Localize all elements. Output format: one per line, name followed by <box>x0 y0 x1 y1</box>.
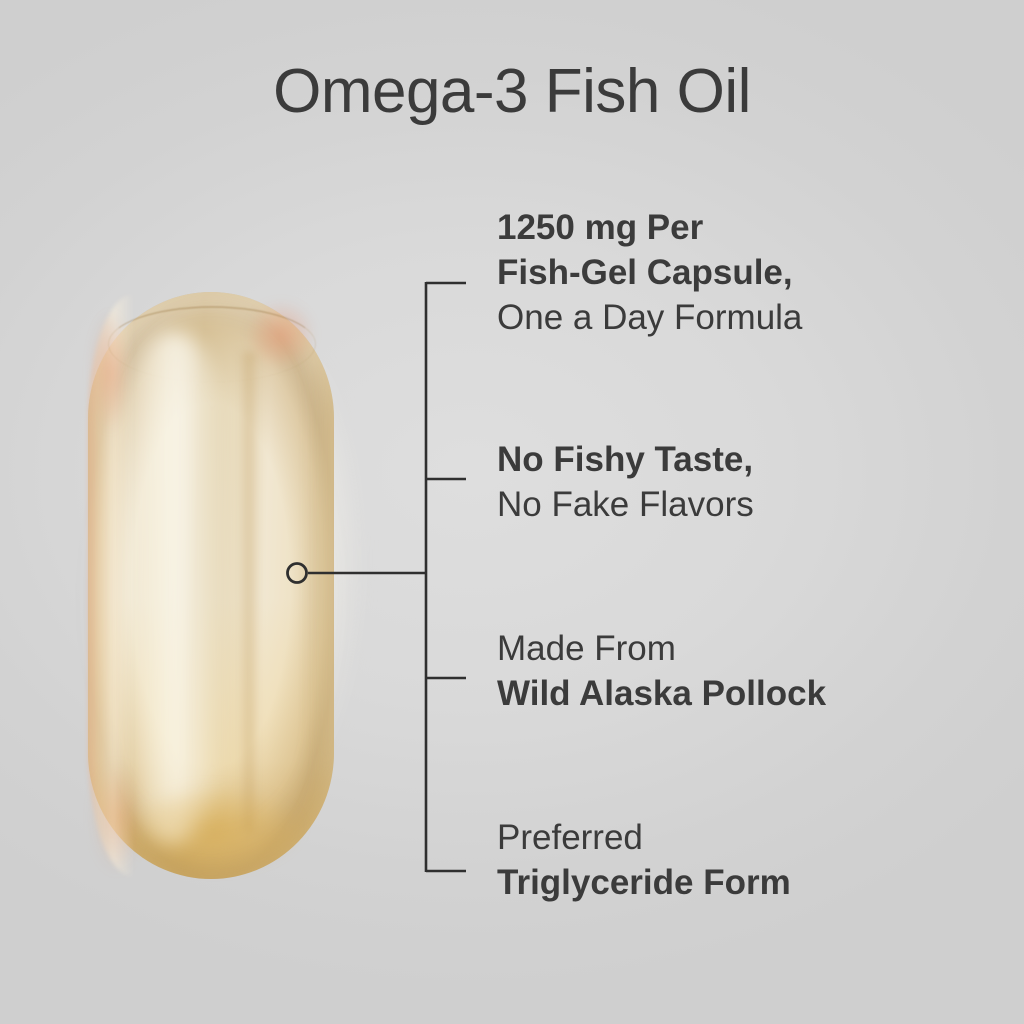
feature-source-line-1: Made From <box>497 629 676 668</box>
capsule-body <box>88 292 334 879</box>
feature-source: Made From Wild Alaska Pollock <box>497 626 826 716</box>
softgel-capsule-image <box>84 288 336 880</box>
feature-source-line-2: Wild Alaska Pollock <box>497 674 826 713</box>
capsule-inner-caustic <box>238 352 260 832</box>
page-title: Omega-3 Fish Oil <box>0 56 1024 127</box>
feature-dose: 1250 mg Per Fish-Gel Capsule, One a Day … <box>497 205 802 340</box>
feature-dose-line-2: Fish-Gel Capsule, <box>497 253 793 292</box>
product-infographic: Omega-3 Fish Oil 1250 mg Per Fish-Gel C <box>0 0 1024 1024</box>
feature-form-line-1: Preferred <box>497 818 643 857</box>
feature-taste-line-2: No Fake Flavors <box>497 485 754 524</box>
feature-form-line-2: Triglyceride Form <box>497 863 791 902</box>
feature-dose-line-1: 1250 mg Per <box>497 208 703 247</box>
capsule-amber-pool <box>122 766 304 868</box>
feature-taste-line-1: No Fishy Taste, <box>497 440 753 479</box>
feature-taste: No Fishy Taste, No Fake Flavors <box>497 437 754 527</box>
feature-dose-line-3: One a Day Formula <box>497 298 802 337</box>
feature-form: Preferred Triglyceride Form <box>497 815 791 905</box>
